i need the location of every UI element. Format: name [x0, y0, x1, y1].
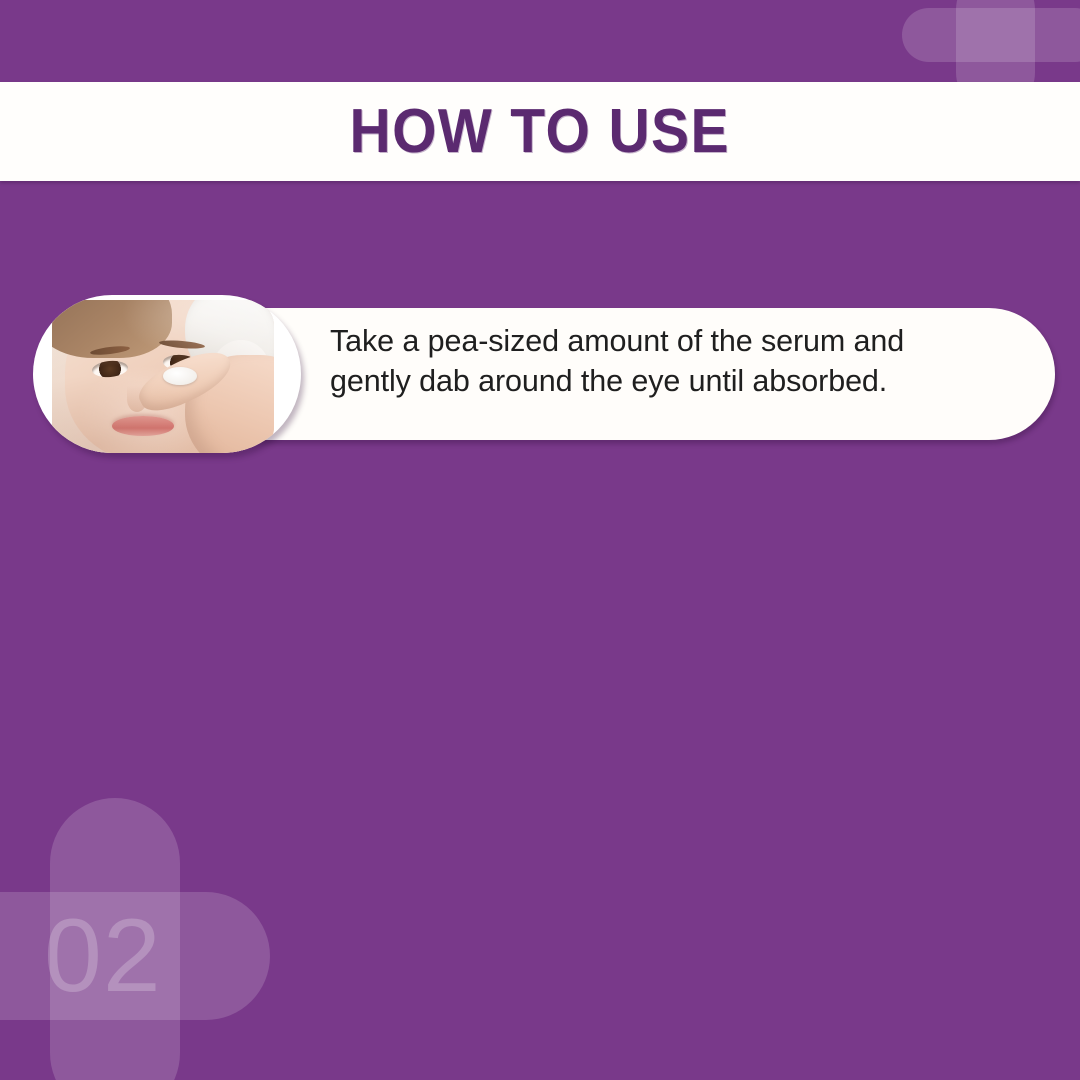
- instruction-row: Take a pea-sized amount of the serum and…: [33, 295, 1057, 455]
- page-title: HOW TO USE: [350, 96, 730, 167]
- instruction-photo-card: [33, 295, 301, 453]
- face-eye-cream-photo: [52, 300, 274, 453]
- instruction-text: Take a pea-sized amount of the serum and…: [330, 321, 970, 401]
- step-number: 02: [44, 904, 244, 1008]
- photo-shading: [52, 300, 274, 453]
- header-banner: HOW TO USE: [0, 82, 1080, 181]
- how-to-use-slide: HOW TO USE Take a pea-sized amount of th…: [0, 0, 1080, 1080]
- decorative-cross-bottom-left: 02: [0, 780, 290, 1080]
- instruction-photo-frame: [52, 300, 274, 453]
